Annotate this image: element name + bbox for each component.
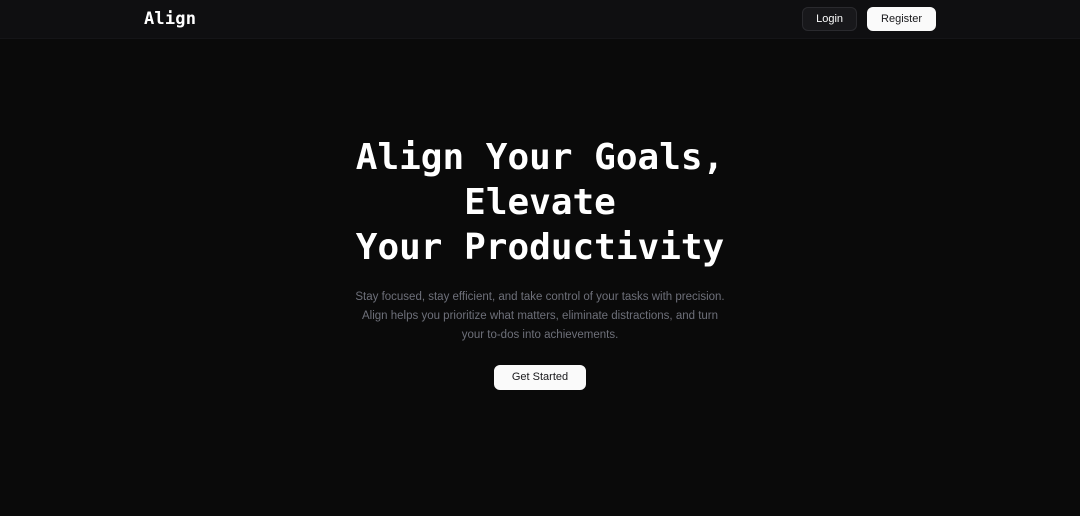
hero-section: Align Your Goals, Elevate Your Productiv… [0,39,1080,516]
site-header: Align Login Register [0,0,1080,39]
hero-title: Align Your Goals, Elevate Your Productiv… [325,135,755,271]
register-button[interactable]: Register [867,7,936,31]
hero-title-line-2: Your Productivity [356,227,724,268]
landing-page: Align Login Register Align Your Goals, E… [0,0,1080,516]
login-button[interactable]: Login [802,7,857,31]
get-started-button[interactable]: Get Started [494,365,586,390]
hero-subtitle: Stay focused, stay efficient, and take c… [353,288,727,345]
brand-logo[interactable]: Align [144,11,196,28]
header-actions: Login Register [802,7,936,31]
hero-title-line-1: Align Your Goals, Elevate [356,137,724,223]
